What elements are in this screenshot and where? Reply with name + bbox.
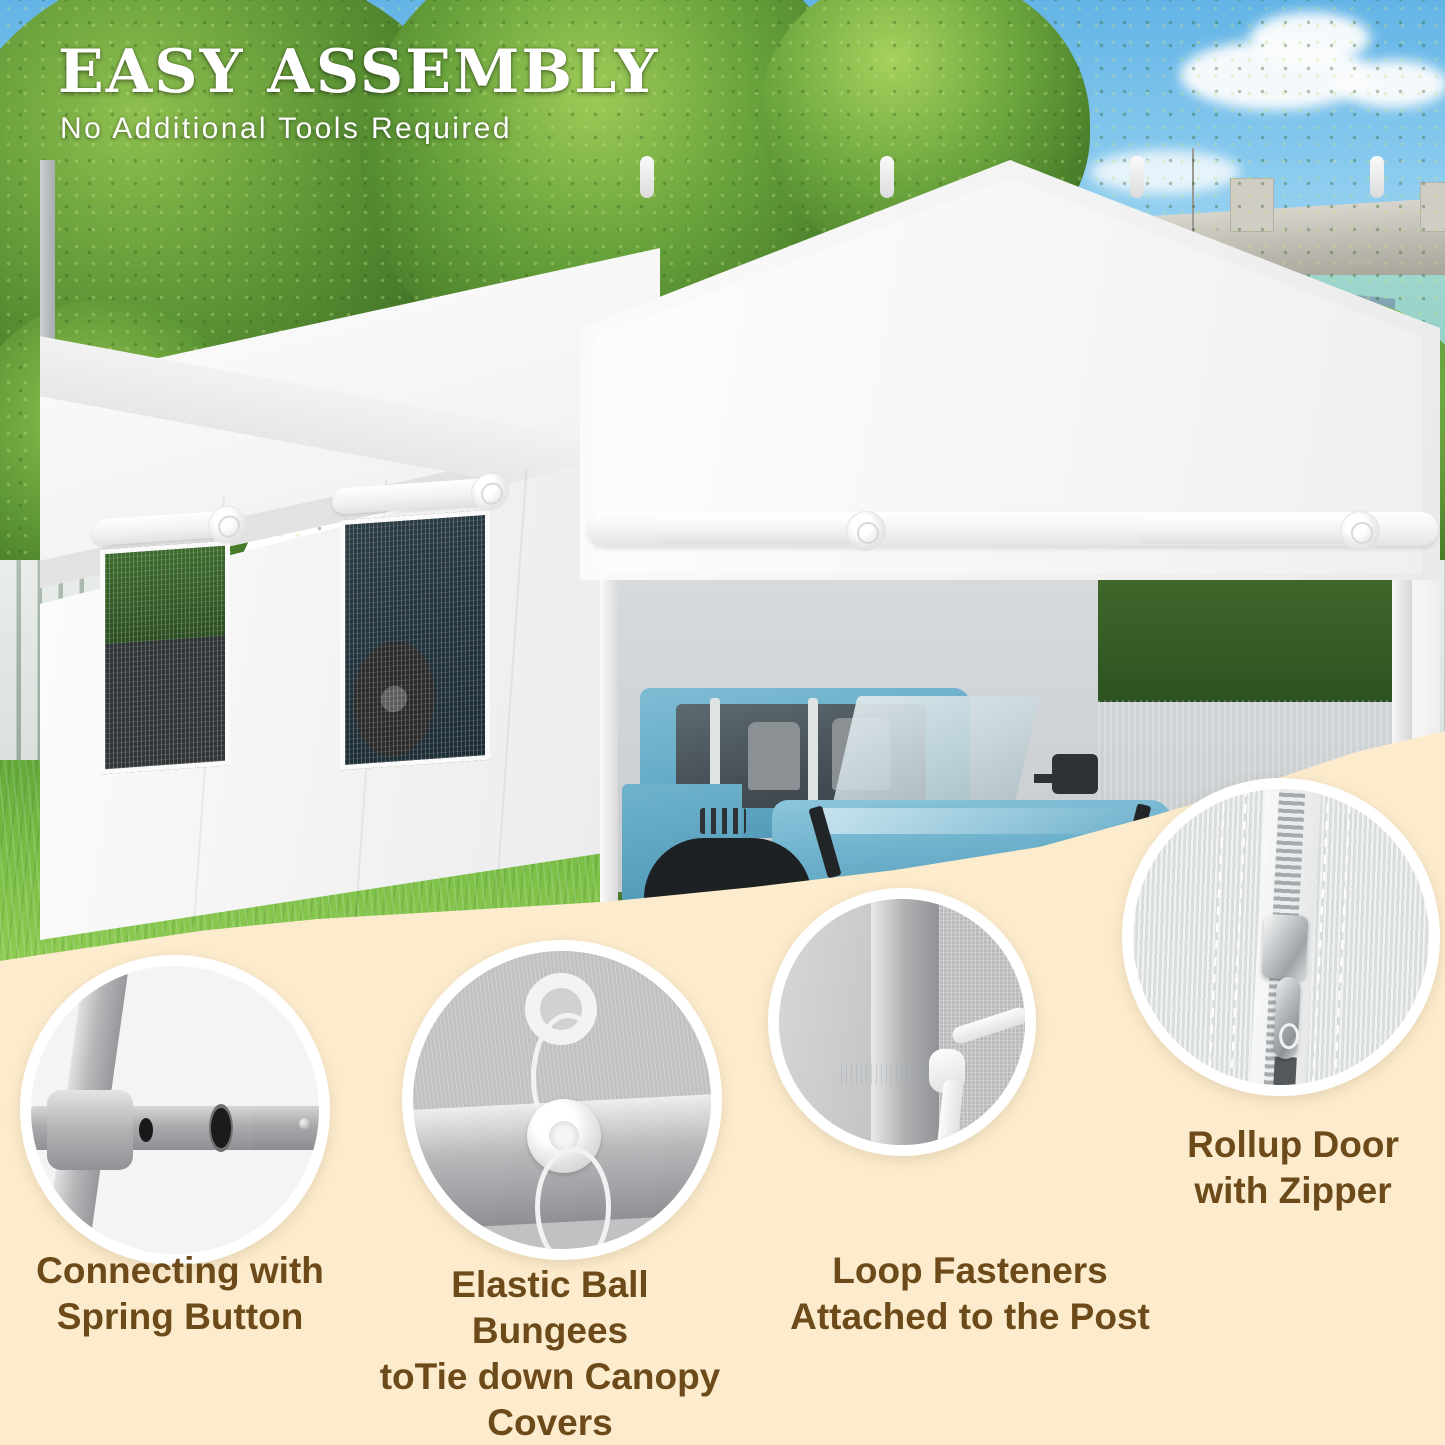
steel-post	[871, 888, 943, 1156]
window-mesh	[105, 546, 225, 769]
caption-line: Attached to the Post	[770, 1294, 1170, 1340]
spring-button-pin	[299, 1118, 310, 1129]
eave-strap-ring	[880, 156, 894, 198]
window-mesh	[345, 515, 485, 765]
headline-subtitle: No Additional Tools Required	[60, 112, 512, 146]
eave-strap-ring	[640, 156, 654, 198]
caption-line: Connecting with	[20, 1248, 340, 1294]
front-left-post	[600, 540, 618, 938]
caption-line: Rollup Door	[1148, 1122, 1438, 1168]
bubble-content	[31, 966, 319, 1254]
vehicle-fender-vent	[700, 808, 746, 834]
bubble-content	[779, 899, 1025, 1145]
feature-photo-rollup-zipper	[1122, 778, 1440, 1096]
bubble-content	[1133, 789, 1429, 1085]
tube-joint-connector	[47, 1090, 133, 1170]
zipper-pull-tab	[1273, 976, 1301, 1059]
roll-end-cap	[846, 511, 886, 551]
caption-line: with Zipper	[1148, 1168, 1438, 1214]
product-feature-image: FORD	[0, 0, 1445, 1445]
mating-steel-tube	[253, 1106, 323, 1150]
vehicle-windshield	[830, 696, 1039, 814]
rolled-door-cover	[1136, 516, 1356, 544]
feature-photo-spring-button	[20, 955, 330, 1265]
vehicle-side-mirror	[1052, 754, 1098, 794]
zipper-slider	[1261, 914, 1308, 980]
caption-line: Spring Button	[20, 1294, 340, 1340]
vehicle-seat	[748, 722, 800, 790]
caption-line: Loop Fasteners	[770, 1248, 1170, 1294]
caption-line: Elastic Ball Bungees	[372, 1262, 728, 1354]
bungee-cord	[535, 1147, 611, 1260]
bubble-content	[413, 951, 711, 1249]
eave-strap-ring	[1130, 156, 1144, 198]
mesh-window	[100, 540, 230, 774]
feature-caption-loop-fastener: Loop Fasteners Attached to the Post	[770, 1248, 1170, 1340]
rolled-door-cover	[652, 516, 862, 544]
zipper-open-gap	[1271, 1056, 1297, 1096]
feature-caption-rollup-zipper: Rollup Door with Zipper	[1148, 1122, 1438, 1214]
eave-strap-ring	[1370, 156, 1384, 198]
tube-open-end	[209, 1104, 233, 1152]
roll-end-cap	[1340, 511, 1380, 551]
caption-line: Covers	[372, 1400, 728, 1445]
feature-photo-loop-fastener	[768, 888, 1036, 1156]
feature-caption-ball-bungee: Elastic Ball Bungees toTie down Canopy C…	[372, 1262, 728, 1445]
spring-button-hole	[139, 1118, 153, 1142]
feature-caption-spring-button: Connecting with Spring Button	[20, 1248, 340, 1340]
headline-title: EASY ASSEMBLY	[58, 40, 659, 104]
caption-line: toTie down Canopy	[372, 1354, 728, 1400]
mesh-window	[340, 510, 490, 770]
vehicle-hood-highlight	[812, 808, 1142, 834]
feature-photo-ball-bungee	[402, 940, 722, 1260]
